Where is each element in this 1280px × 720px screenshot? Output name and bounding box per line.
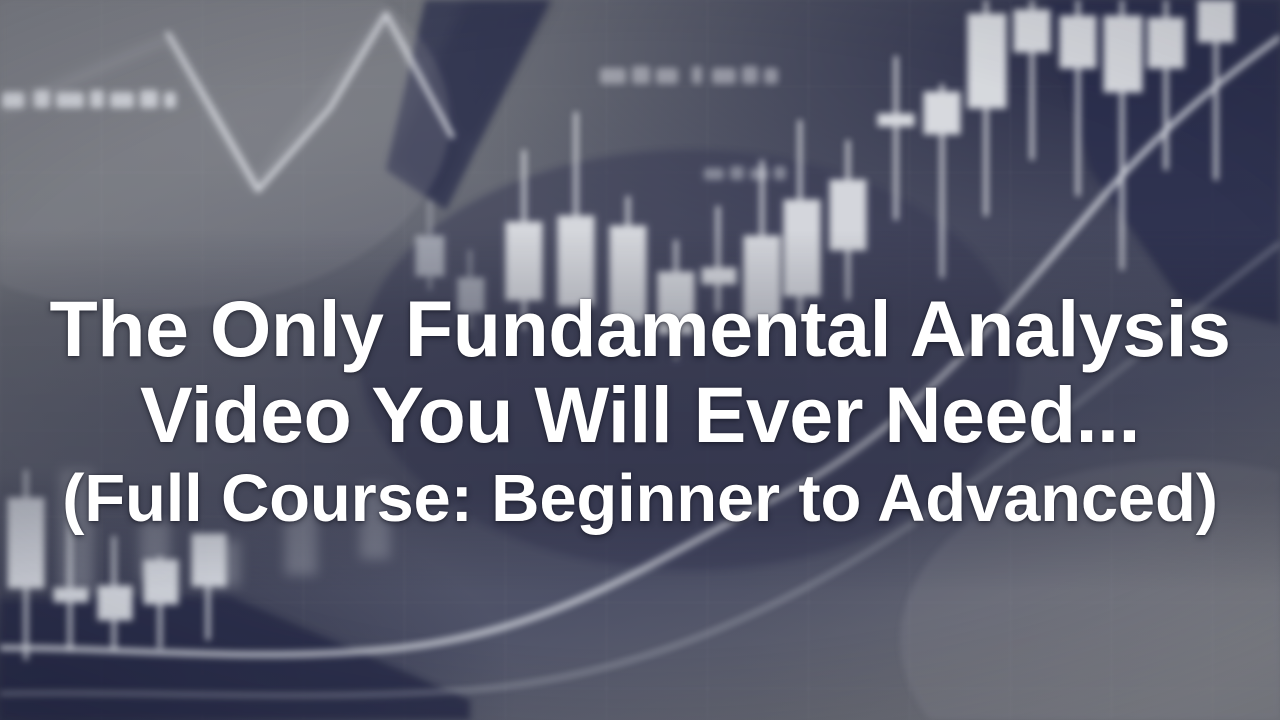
illegible-chart-label-top-left: [2, 90, 176, 108]
headline-line-1: The Only Fundamental Analysis: [0, 286, 1280, 372]
illegible-chart-label-mid-right: [704, 166, 786, 180]
illegible-chart-label-top-center: [600, 66, 778, 84]
thumbnail-headline: The Only Fundamental Analysis Video You …: [0, 286, 1280, 540]
headline-line-2: Video You Will Ever Need...: [0, 372, 1280, 458]
blurred-chart-labels: [2, 66, 786, 180]
headline-line-3: (Full Course: Beginner to Advanced): [0, 458, 1280, 540]
candlestick-cluster-right: [878, 0, 1234, 278]
line-series-left: [168, 14, 452, 190]
video-thumbnail: The Only Fundamental Analysis Video You …: [0, 0, 1280, 720]
